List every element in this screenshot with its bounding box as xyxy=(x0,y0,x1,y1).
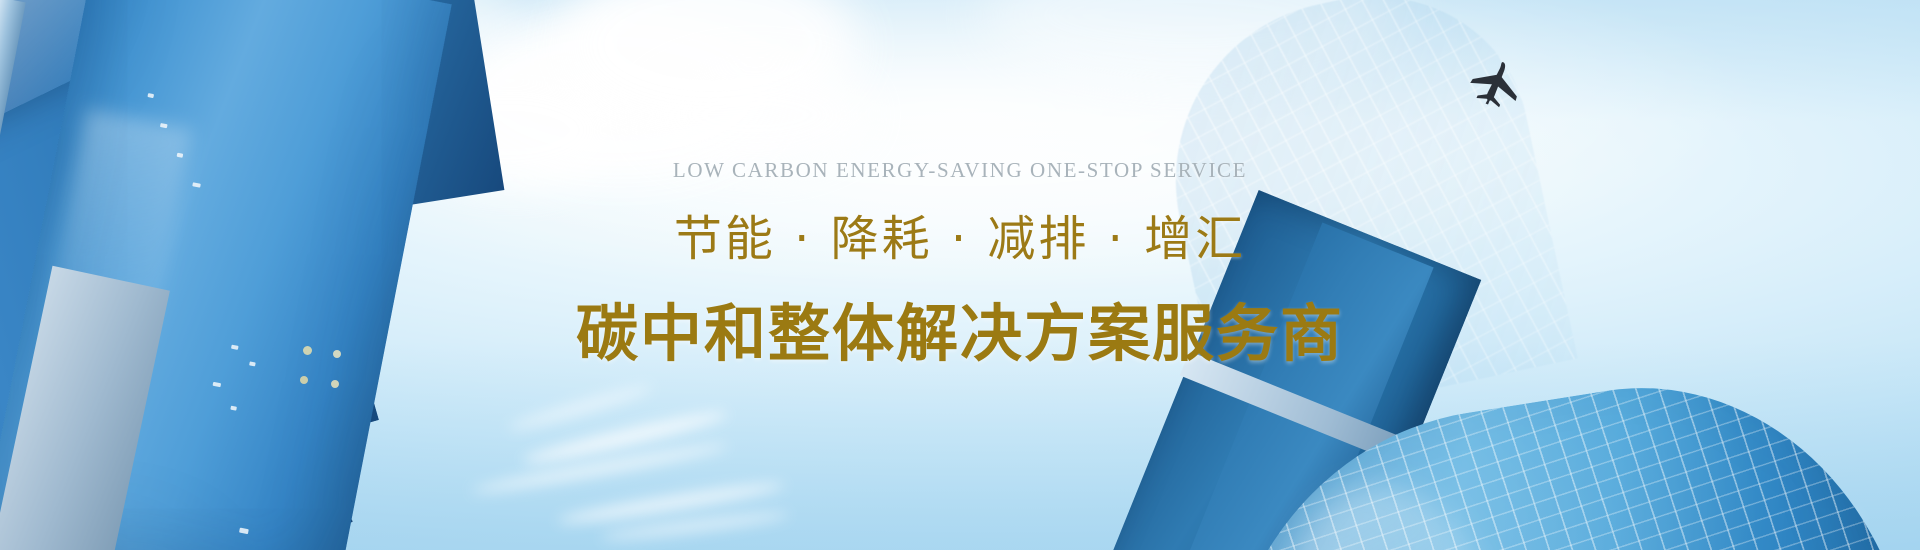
window-light-fleck xyxy=(148,93,155,98)
window-light-fleck xyxy=(331,380,339,388)
window-light-fleck xyxy=(239,528,249,535)
window-light-fleck xyxy=(300,376,308,384)
window-light-fleck xyxy=(193,183,202,188)
hero-banner: LOW CARBON ENERGY-SAVING ONE-STOP SERVIC… xyxy=(0,0,1920,550)
window-light-fleck xyxy=(333,350,341,358)
window-light-fleck xyxy=(231,345,239,350)
window-light-fleck xyxy=(249,362,256,367)
window-light-fleck xyxy=(303,346,312,355)
right-skyscraper-cluster xyxy=(1180,0,1920,550)
left-skyscraper-cluster xyxy=(0,0,560,550)
window-light-fleck xyxy=(230,405,237,410)
airplane-icon xyxy=(1462,56,1530,114)
window-light-fleck xyxy=(176,153,183,158)
window-light-fleck xyxy=(213,382,222,387)
